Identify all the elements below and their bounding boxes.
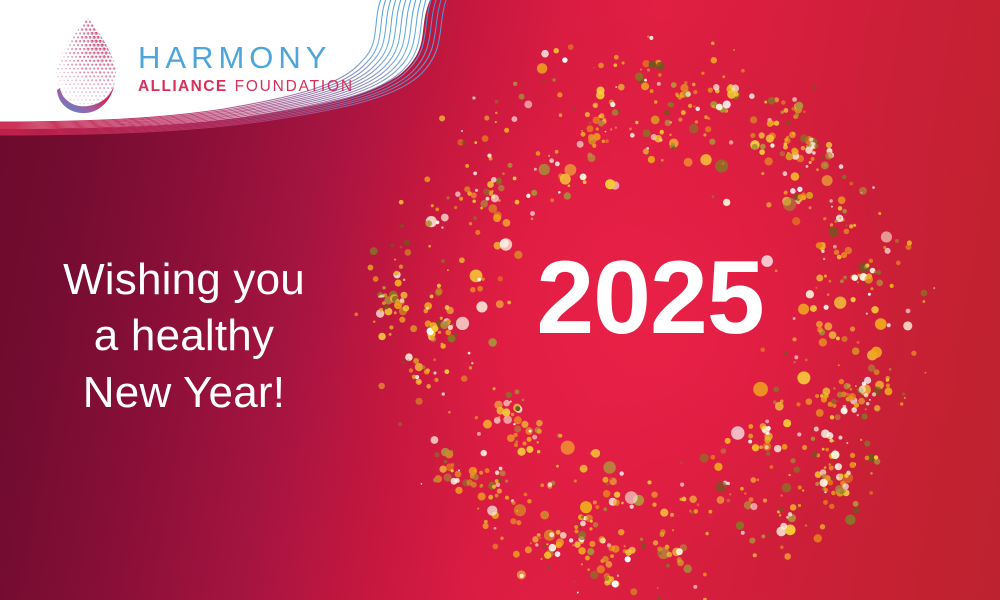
logo-subtitle: ALLIANCEFOUNDATION — [138, 79, 354, 95]
greeting-card: 2025 — [0, 0, 1000, 600]
brand-logo[interactable]: HARMONY ALLIANCEFOUNDATION — [48, 16, 318, 116]
logo-word-foundation: FOUNDATION — [235, 78, 354, 95]
greeting-headline: Wishing you a healthy New Year! — [24, 252, 344, 421]
logo-word-harmony: HARMONY — [138, 42, 354, 73]
logo-word-alliance: ALLIANCE — [138, 78, 228, 95]
blood-droplet-dots-icon — [48, 16, 126, 116]
year-label: 2025 — [455, 246, 845, 350]
logo-wordmark: HARMONY ALLIANCEFOUNDATION — [138, 38, 354, 95]
